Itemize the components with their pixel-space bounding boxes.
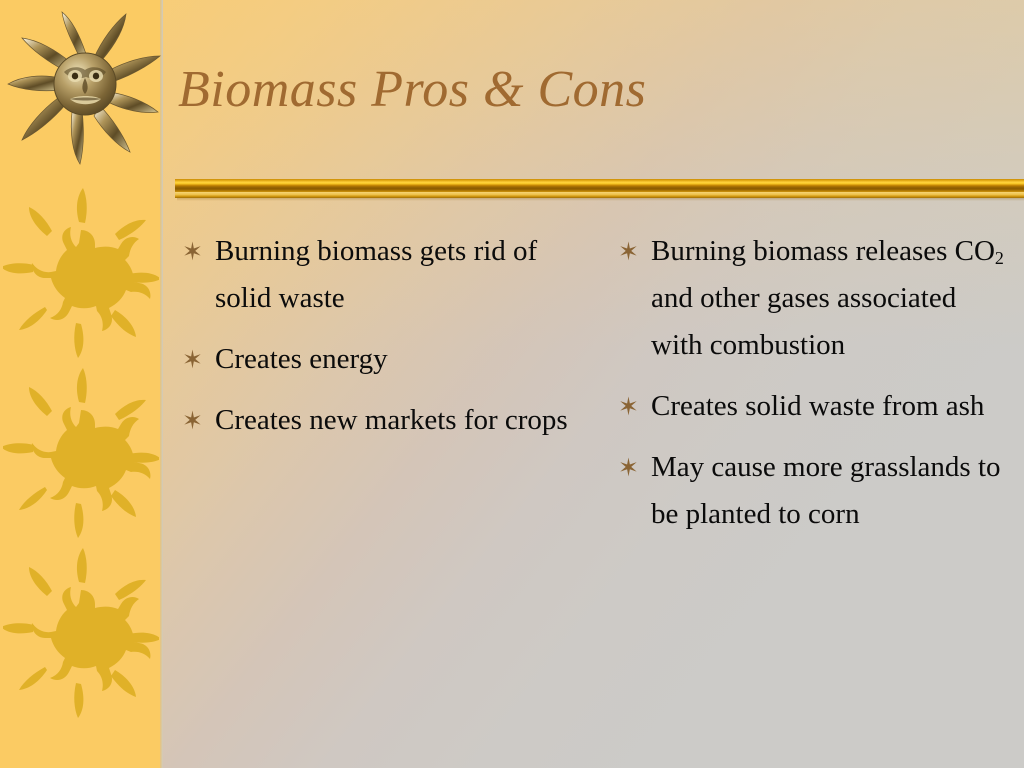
slide-canvas: Biomass Pros & Cons ✶ Burning biomass ge… (0, 0, 1024, 768)
bullet-text: Creates energy (215, 343, 388, 375)
star-bullet-icon: ✶ (182, 228, 203, 276)
pros-column: ✶ Burning biomass gets rid of solid wast… (182, 228, 582, 458)
sidebar-sun-silhouette-2 (3, 366, 159, 542)
cons-column: ✶ Burning biomass releases CO2 and other… (618, 228, 1014, 552)
bullet-text: Burning biomass releases CO2 and other g… (651, 235, 1004, 361)
bullet-text-before: Burning biomass releases CO (651, 235, 995, 267)
list-item: ✶ Burning biomass releases CO2 and other… (618, 228, 1014, 369)
sun-face-emblem-icon (6, 6, 164, 168)
bullet-text-after: and other gases associated with combusti… (651, 282, 956, 361)
cons-bullet-list: ✶ Burning biomass releases CO2 and other… (618, 228, 1014, 538)
sidebar-sun-silhouette-3 (3, 546, 159, 722)
subscript: 2 (995, 248, 1004, 268)
star-bullet-icon: ✶ (618, 383, 639, 431)
divider-shadow (177, 198, 1024, 201)
list-item: ✶ Creates new markets for crops (182, 397, 582, 444)
sidebar-sun-silhouette-1 (3, 186, 159, 362)
divider-highlight (175, 192, 1024, 196)
star-bullet-icon: ✶ (182, 336, 203, 384)
bullet-text: Burning biomass gets rid of solid waste (215, 235, 537, 314)
star-bullet-icon: ✶ (182, 397, 203, 445)
star-bullet-icon: ✶ (618, 444, 639, 492)
list-item: ✶ Creates solid waste from ash (618, 383, 1014, 430)
bullet-text: May cause more grasslands to be planted … (651, 451, 1001, 530)
gold-divider-bar (175, 179, 1024, 198)
star-bullet-icon: ✶ (618, 228, 639, 276)
list-item: ✶ Creates energy (182, 336, 582, 383)
bullet-text: Creates new markets for crops (215, 404, 568, 436)
list-item: ✶ May cause more grasslands to be plante… (618, 444, 1014, 538)
pros-bullet-list: ✶ Burning biomass gets rid of solid wast… (182, 228, 582, 444)
list-item: ✶ Burning biomass gets rid of solid wast… (182, 228, 582, 322)
bullet-text: Creates solid waste from ash (651, 390, 984, 422)
slide-title: Biomass Pros & Cons (178, 63, 998, 118)
